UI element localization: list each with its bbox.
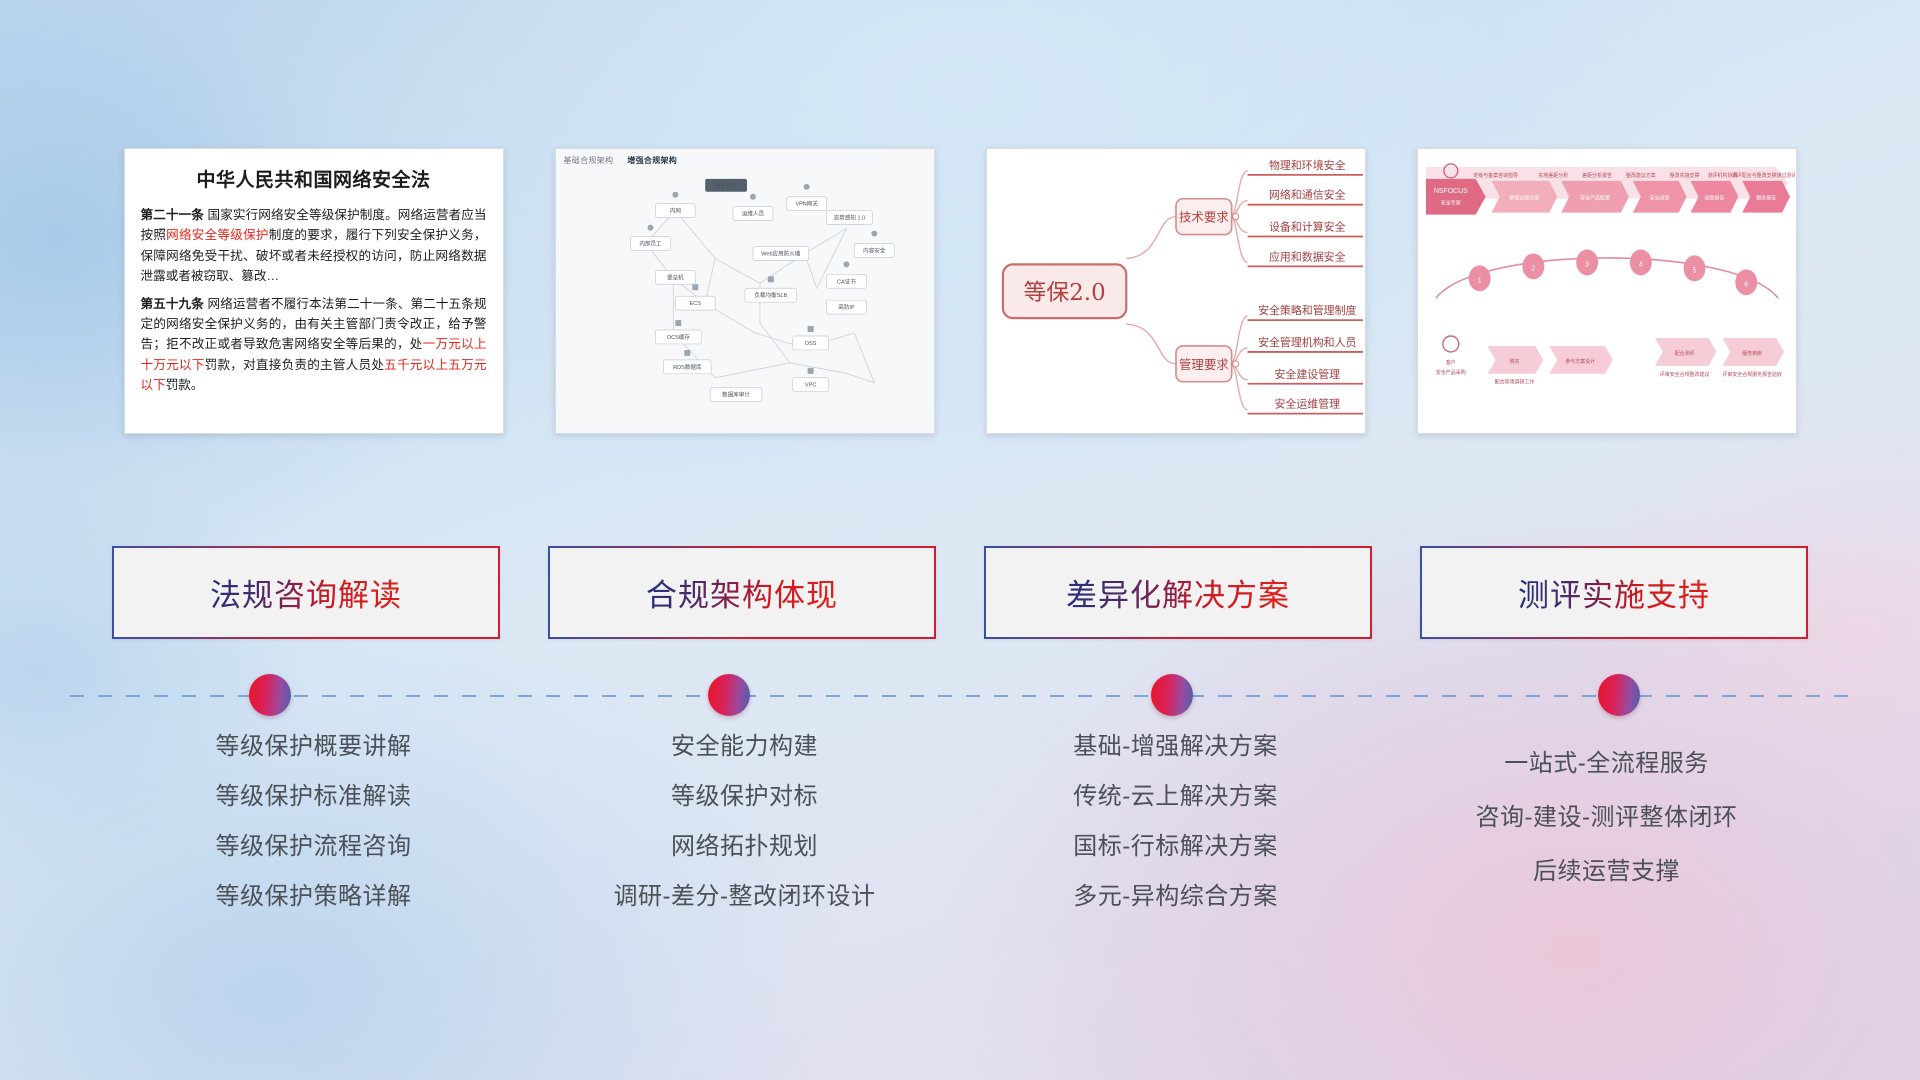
svg-text:VPC: VPC — [804, 383, 815, 389]
roadmap-band-label: 安全运营 — [1649, 195, 1669, 202]
list-item: 传统-云上解决方案 — [986, 785, 1366, 809]
list-item: 等级保护策略详解 — [124, 885, 504, 909]
article-59-text-2: 罚款，对直接负责的主管人员处 — [205, 358, 385, 372]
roadmap-step-label: 整改实施支撑 — [1669, 172, 1699, 179]
list-item: 等级保护标准解读 — [124, 785, 504, 809]
mindmap-leaf: 安全策略和管理制度 — [1258, 303, 1356, 317]
mindmap-leaf: 设备和计算安全 — [1269, 220, 1346, 234]
timeline-dot-3[interactable] — [1151, 674, 1193, 716]
svg-text:高防IP: 高防IP — [838, 303, 855, 311]
roadmap-bottom-left-label: 参与方案设计 — [1565, 358, 1595, 365]
svg-text:OSS: OSS — [804, 341, 816, 347]
card-law-text[interactable]: 中华人民共和国网络安全法 第二十一条 国家实行网络安全等级保护制度。网络运营者应… — [124, 148, 504, 434]
svg-text:内部员工: 内部员工 — [639, 239, 662, 247]
svg-text:运维人员: 运维人员 — [741, 210, 764, 218]
roadmap-number: 4 — [1638, 261, 1642, 268]
list-item: 后续运营支撑 — [1417, 860, 1797, 884]
roadmap-band-label: 安全产品配置 — [1580, 195, 1610, 202]
svg-text:内容安全: 内容安全 — [863, 246, 886, 254]
detail-columns: 等级保护概要讲解 等级保护标准解读 等级保护流程咨询 等级保护策略详解 安全能力… — [0, 735, 1920, 935]
list-item: 等级保护流程咨询 — [124, 835, 504, 859]
mindmap-svg: 等保2.0 技术要求 管理要求 物理和环境安全 网络和通信安全 设备和计算安全 … — [987, 149, 1365, 433]
label-text: 法规咨询解读 — [210, 570, 402, 615]
svg-text:ECS: ECS — [689, 301, 701, 307]
mindmap-leaf: 应用和数据安全 — [1269, 249, 1346, 263]
card-architecture-diagram[interactable]: 基础合规架构增强合规架构 安全管家 内网 内部员工 堡垒机 运维人员 VPN网关 — [555, 148, 935, 434]
mindmap-leaf: 安全管理机构和人员 — [1258, 335, 1356, 349]
timeline — [0, 666, 1920, 726]
roadmap-number: 3 — [1585, 261, 1589, 268]
svg-text:内网: 内网 — [669, 207, 681, 215]
roadmap-brand: NSFOCUS — [1433, 188, 1467, 195]
roadmap-bottom-right-label: 评审安全合规服务报告验收 — [1722, 371, 1782, 378]
timeline-dot-4[interactable] — [1598, 674, 1640, 716]
mindmap-leaves-tech: 物理和环境安全 网络和通信安全 设备和计算安全 应用和数据安全 — [1247, 158, 1362, 266]
list-item: 网络拓扑规划 — [555, 835, 935, 859]
roadmap-band-label: 服务报告 — [1756, 195, 1776, 202]
label-text: 差异化解决方案 — [1066, 570, 1290, 615]
svg-text:OCS缓存: OCS缓存 — [666, 333, 690, 341]
roadmap-customer-label: 客户 — [1445, 359, 1455, 366]
roadmap-step-label: 定级与备案咨询指导 — [1473, 172, 1518, 179]
label-text: 合规架构体现 — [646, 570, 838, 615]
law-article-21: 第二十一条 国家实行网络安全等级保护制度。网络运营者应当按照网络安全等级保护制度… — [141, 205, 487, 287]
roadmap-bottom-left-label: 配合现场调研工作 — [1494, 379, 1534, 386]
column-assessment-support: 一站式-全流程服务 咨询-建设-测评整体闭环 后续运营支撑 — [1417, 735, 1797, 935]
list-item: 基础-增强解决方案 — [986, 735, 1366, 759]
svg-text:数据库审计: 数据库审计 — [722, 391, 750, 399]
label-box-compliance-architecture[interactable]: 合规架构体现 — [548, 546, 936, 639]
list-item: 多元-异构综合方案 — [986, 885, 1366, 909]
svg-text:堡垒机: 堡垒机 — [667, 273, 684, 281]
law-title: 中华人民共和国网络安全法 — [141, 165, 487, 192]
article-59-label: 第五十九条 — [141, 297, 204, 311]
architecture-nodes: 内网 内部员工 堡垒机 运维人员 VPN网关 态势感知 1.0 内容安全 CA证… — [630, 197, 894, 402]
list-item: 咨询-建设-测评整体闭环 — [1417, 806, 1797, 830]
svg-text:VPN网关: VPN网关 — [795, 200, 818, 208]
roadmap-number: 1 — [1477, 277, 1481, 284]
svg-text:RDS数据库: RDS数据库 — [673, 363, 702, 371]
list-item: 国标-行标解决方案 — [986, 835, 1366, 859]
label-box-differentiated-solution[interactable]: 差异化解决方案 — [984, 546, 1372, 639]
list-item: 等级保护对标 — [555, 785, 935, 809]
roadmap-number: 2 — [1531, 265, 1535, 272]
svg-text:负载均衡SLB: 负载均衡SLB — [754, 291, 787, 299]
svg-text:CA证书: CA证书 — [837, 277, 856, 285]
roadmap-number: 6 — [1744, 281, 1748, 288]
card-roadmap[interactable]: 定级与备案咨询指导 实地差距分析 差距分析报告 整改建议方案 整改实施支撑 测评… — [1417, 148, 1797, 434]
roadmap-band-label: 解读运营方案 — [1509, 195, 1539, 202]
mindmap-branch-mgmt-label: 管理要求 — [1178, 357, 1228, 372]
label-box-assessment-support[interactable]: 测评实施支持 — [1420, 546, 1808, 639]
mindmap-root-label: 等保2.0 — [1023, 280, 1105, 306]
roadmap-step-label: 实地差距分析 — [1538, 172, 1568, 179]
article-59-text-3: 罚款。 — [166, 378, 204, 392]
roadmap-svg: 定级与备案咨询指导 实地差距分析 差距分析报告 整改建议方案 整改实施支撑 测评… — [1418, 149, 1796, 433]
roadmap-step-label: 差距分析报告 — [1582, 172, 1612, 179]
roadmap-numbers: 1 2 3 4 5 6 — [1468, 249, 1756, 295]
roadmap-brand-sub: 安全专家 — [1440, 200, 1460, 207]
mindmap-leaf: 物理和环境安全 — [1269, 158, 1346, 172]
roadmap-bottom-left-label: 购买 — [1509, 358, 1519, 365]
list-item: 安全能力构建 — [555, 735, 935, 759]
column-differentiated-solution: 基础-增强解决方案 传统-云上解决方案 国标-行标解决方案 多元-异构综合方案 — [986, 735, 1366, 935]
article-21-label: 第二十一条 — [141, 208, 204, 222]
roadmap-step-label: 测评配合与整改支撑通过测评 — [1731, 172, 1795, 179]
timeline-dot-2[interactable] — [708, 674, 750, 716]
list-item: 调研-差分-整改闭环设计 — [555, 885, 935, 909]
roadmap-band-label: 运营报告 — [1704, 195, 1724, 202]
label-row: 法规咨询解读 合规架构体现 差异化解决方案 测评实施支持 — [0, 546, 1920, 639]
article-21-highlight: 网络安全等级保护 — [166, 228, 269, 242]
list-item: 一站式-全流程服务 — [1417, 752, 1797, 776]
svg-text:态势感知 1.0: 态势感知 1.0 — [833, 214, 865, 222]
mindmap-leaf: 网络和通信安全 — [1269, 188, 1346, 202]
law-article-59: 第五十九条 网络运营者不履行本法第二十一条、第二十五条规定的网络安全保护义务的，… — [141, 294, 487, 396]
column-regulation-consulting: 等级保护概要讲解 等级保护标准解读 等级保护流程咨询 等级保护策略详解 — [124, 735, 504, 935]
svg-text:Web应用防火墙: Web应用防火墙 — [761, 249, 801, 257]
architecture-node-title: 安全管家 — [714, 182, 737, 190]
roadmap-bottom-right-label: 配合测评 — [1674, 350, 1694, 357]
mindmap-leaf: 安全运维管理 — [1274, 397, 1340, 411]
roadmap-step-label: 整改建议方案 — [1625, 172, 1655, 179]
roadmap-bottom-right-label: 评审安全合规整改建议 — [1659, 371, 1709, 378]
timeline-dashed-line — [70, 695, 1850, 697]
label-box-regulation-consulting[interactable]: 法规咨询解读 — [112, 546, 500, 639]
mindmap-leaf: 安全建设管理 — [1274, 367, 1340, 381]
list-item: 等级保护概要讲解 — [124, 735, 504, 759]
cards-row: 中华人民共和国网络安全法 第二十一条 国家实行网络安全等级保护制度。网络运营者应… — [0, 148, 1920, 434]
mindmap-branch-tech-label: 技术要求 — [1178, 210, 1228, 225]
roadmap-bottom-right-label: 服务到账 — [1742, 350, 1762, 357]
mindmap-leaves-mgmt: 安全策略和管理制度 安全管理机构和人员 安全建设管理 安全运维管理 — [1247, 303, 1362, 413]
roadmap-bottom-left-label: 安全产品采购 — [1435, 369, 1465, 376]
label-text: 测评实施支持 — [1518, 570, 1710, 615]
roadmap-number: 5 — [1692, 267, 1696, 274]
card-mindmap[interactable]: 等保2.0 技术要求 管理要求 物理和环境安全 网络和通信安全 设备和计算安全 … — [986, 148, 1366, 434]
architecture-svg: 安全管家 内网 内部员工 堡垒机 运维人员 VPN网关 态势感知 1.0 内容安… — [556, 149, 934, 433]
column-compliance-architecture: 安全能力构建 等级保护对标 网络拓扑规划 调研-差分-整改闭环设计 — [555, 735, 935, 935]
timeline-dot-1[interactable] — [249, 674, 291, 716]
